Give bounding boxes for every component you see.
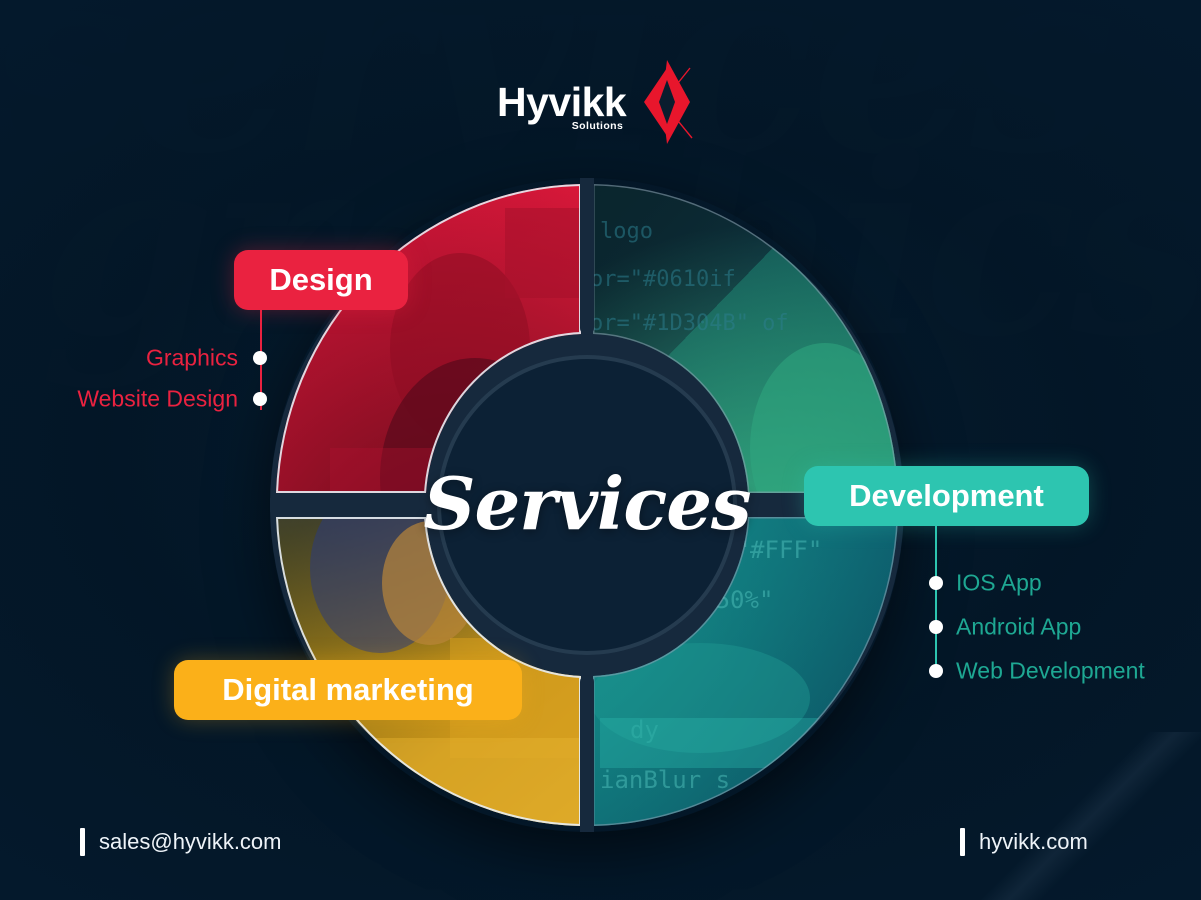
category-badge-design[interactable]: Design	[234, 250, 408, 310]
svg-text:logo: logo	[600, 219, 653, 244]
footer-website-label: hyvikk.com	[979, 829, 1088, 855]
svg-text:ianBlur s: ianBlur s	[600, 766, 730, 794]
category-badge-development[interactable]: Development	[804, 466, 1089, 526]
footer-email[interactable]: sales@hyvikk.com	[80, 828, 282, 856]
design-item-dot-1	[253, 351, 267, 365]
development-item-web-development[interactable]: Web Development	[956, 658, 1145, 685]
footer-website-bar-icon	[960, 828, 965, 856]
donut-center: Services	[437, 355, 737, 655]
brand-name: Hyvikk	[497, 82, 626, 123]
development-connector-line	[935, 520, 937, 672]
development-item-ios-app[interactable]: IOS App	[956, 570, 1042, 597]
category-badge-development-label: Development	[849, 478, 1044, 514]
design-item-list: Graphics Website Design	[0, 300, 300, 430]
design-item-graphics[interactable]: Graphics	[146, 345, 238, 372]
development-item-list: IOS App Android App Web Development	[880, 520, 1200, 700]
poster-canvas: services graphics Hyvikk Solutions	[0, 0, 1201, 900]
brand-logo[interactable]: Hyvikk Solutions	[497, 58, 700, 146]
background-corner-sheen	[963, 732, 1201, 900]
page-title: Services	[423, 461, 750, 546]
category-badge-digital-marketing-label: Digital marketing	[222, 672, 474, 708]
category-badge-design-label: Design	[269, 262, 372, 298]
design-item-website-design[interactable]: Website Design	[77, 386, 238, 413]
category-badge-digital-marketing[interactable]: Digital marketing	[174, 660, 522, 720]
development-item-dot-2	[929, 620, 943, 634]
brand-tagline: Solutions	[572, 120, 623, 132]
diamond-logo-icon	[634, 58, 700, 146]
development-item-dot-3	[929, 664, 943, 678]
brand-logo-text: Hyvikk Solutions	[497, 82, 626, 123]
development-item-android-app[interactable]: Android App	[956, 614, 1081, 641]
svg-text:or="#0610if: or="#0610if	[590, 267, 736, 292]
design-item-dot-2	[253, 392, 267, 406]
development-item-dot-1	[929, 576, 943, 590]
footer-email-label: sales@hyvikk.com	[99, 829, 282, 855]
footer-website[interactable]: hyvikk.com	[960, 828, 1088, 856]
svg-text:or="#1D304B" of: or="#1D304B" of	[590, 311, 789, 336]
footer-email-bar-icon	[80, 828, 85, 856]
